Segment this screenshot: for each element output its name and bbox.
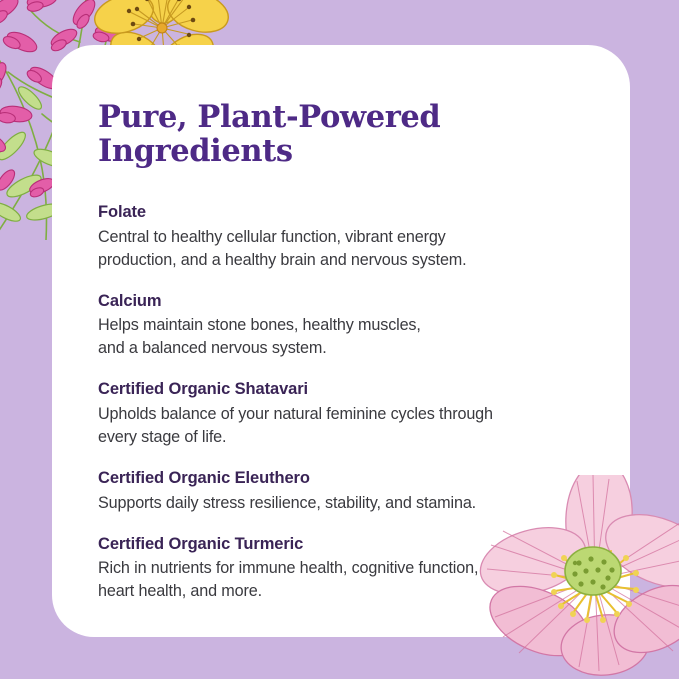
ingredient-name: Certified Organic Turmeric xyxy=(98,534,584,555)
ingredient-name: Calcium xyxy=(98,291,584,312)
ingredient-name: Certified Organic Shatavari xyxy=(98,379,584,400)
list-item: Certified Organic Shatavari Upholds bala… xyxy=(98,379,584,449)
ingredient-description: Helps maintain stone bones, healthy musc… xyxy=(98,314,584,360)
list-item: Certified Organic Turmeric Rich in nutri… xyxy=(98,534,584,604)
page-title: Pure, Plant-Powered Ingredients xyxy=(98,101,584,168)
ingredient-description: Supports daily stress resilience, stabil… xyxy=(98,492,584,515)
content-card: Pure, Plant-Powered Ingredients Folate C… xyxy=(52,45,630,637)
ingredient-name: Folate xyxy=(98,202,584,223)
list-item: Folate Central to healthy cellular funct… xyxy=(98,202,584,272)
ingredient-description: Rich in nutrients for immune health, cog… xyxy=(98,557,584,603)
ingredient-name: Certified Organic Eleuthero xyxy=(98,468,584,489)
ingredient-description: Upholds balance of your natural feminine… xyxy=(98,403,584,449)
list-item: Calcium Helps maintain stone bones, heal… xyxy=(98,291,584,361)
list-item: Certified Organic Eleuthero Supports dai… xyxy=(98,468,584,515)
ingredients-panel: Pure, Plant-Powered Ingredients Folate C… xyxy=(0,0,679,679)
ingredient-description: Central to healthy cellular function, vi… xyxy=(98,226,584,272)
